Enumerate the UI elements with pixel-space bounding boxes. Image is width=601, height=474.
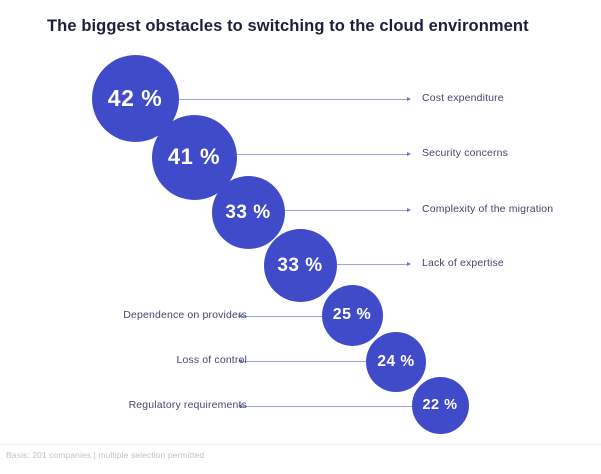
category-label: Cost expenditure	[422, 92, 504, 104]
category-label: Lack of expertise	[422, 257, 504, 269]
category-label: Complexity of the migration	[422, 203, 553, 215]
category-label: Dependence on providers	[123, 309, 247, 321]
leader-line	[285, 210, 407, 211]
leader-arrow-icon	[407, 208, 411, 212]
leader-line	[242, 361, 370, 362]
leader-line	[237, 154, 407, 155]
bubble-value-label: 41 %	[168, 146, 220, 168]
leader-line	[242, 406, 415, 407]
bubble-7[interactable]: 22 %	[412, 377, 469, 434]
category-label: Loss of control	[176, 354, 247, 366]
leader-arrow-icon	[407, 97, 411, 101]
category-label: Security concerns	[422, 147, 508, 159]
leader-line	[337, 264, 407, 265]
leader-arrow-icon	[407, 152, 411, 156]
bubble-value-label: 22 %	[422, 398, 457, 413]
leader-line	[242, 316, 326, 317]
bubble-value-label: 25 %	[333, 307, 371, 323]
bubble-4[interactable]: 33 %	[264, 229, 337, 302]
baseline-divider	[0, 444, 601, 445]
bubble-5[interactable]: 25 %	[322, 285, 383, 346]
bubble-value-label: 42 %	[108, 87, 162, 110]
leader-arrow-icon	[407, 262, 411, 266]
bubble-chart: The biggest obstacles to switching to th…	[0, 0, 601, 474]
plot-area: 42 %Cost expenditure41 %Security concern…	[0, 0, 601, 474]
leader-line	[179, 99, 407, 100]
bubble-6[interactable]: 24 %	[366, 332, 426, 392]
bubble-value-label: 33 %	[277, 256, 322, 275]
bubble-value-label: 24 %	[377, 354, 414, 370]
bubble-value-label: 33 %	[225, 203, 270, 222]
category-label: Regulatory requirements	[129, 399, 247, 411]
bubble-3[interactable]: 33 %	[212, 176, 285, 249]
chart-footnote: Basis: 201 companies | multiple selectio…	[6, 450, 204, 460]
